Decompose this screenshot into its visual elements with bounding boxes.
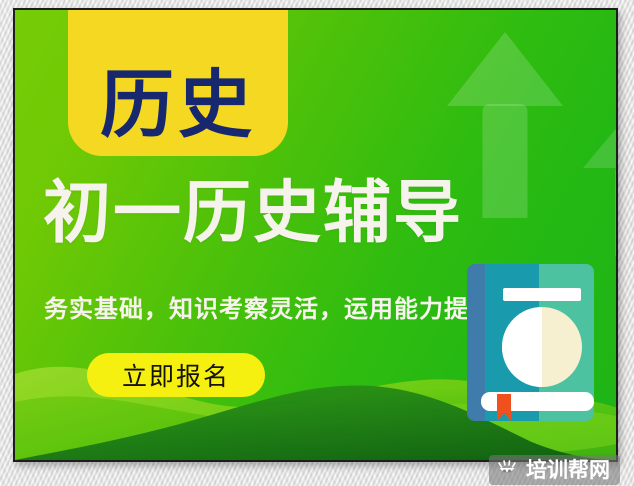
arrow-shaft <box>615 166 616 256</box>
course-promo-banner: 历史 初一历史辅导 务实基础，知识考察灵活，运用能力提升 立即报名 <box>13 8 618 462</box>
subject-badge-label: 历史 <box>100 68 256 142</box>
up-arrow-icon <box>581 106 616 256</box>
arrow-head <box>583 106 616 168</box>
subject-badge: 历史 <box>68 10 288 156</box>
watermark-label: 培训帮网 <box>526 460 610 481</box>
sun-face-icon <box>497 460 519 480</box>
page-canvas: 历史 初一历史辅导 务实基础，知识考察灵活，运用能力提升 立即报名 <box>0 0 634 486</box>
book-illustration <box>467 264 594 421</box>
page-title: 初一历史辅导 <box>43 178 463 249</box>
arrow-shaft <box>483 104 528 218</box>
enroll-now-label: 立即报名 <box>122 357 230 393</box>
up-arrow-icon <box>447 32 563 218</box>
enroll-now-button[interactable]: 立即报名 <box>87 353 265 397</box>
watermark: 培训帮网 <box>489 455 620 485</box>
arrow-head <box>447 32 563 106</box>
subtitle-text: 务实基础，知识考察灵活，运用能力提升 <box>44 289 494 324</box>
banner-background: 历史 初一历史辅导 务实基础，知识考察灵活，运用能力提升 立即报名 <box>15 10 616 460</box>
